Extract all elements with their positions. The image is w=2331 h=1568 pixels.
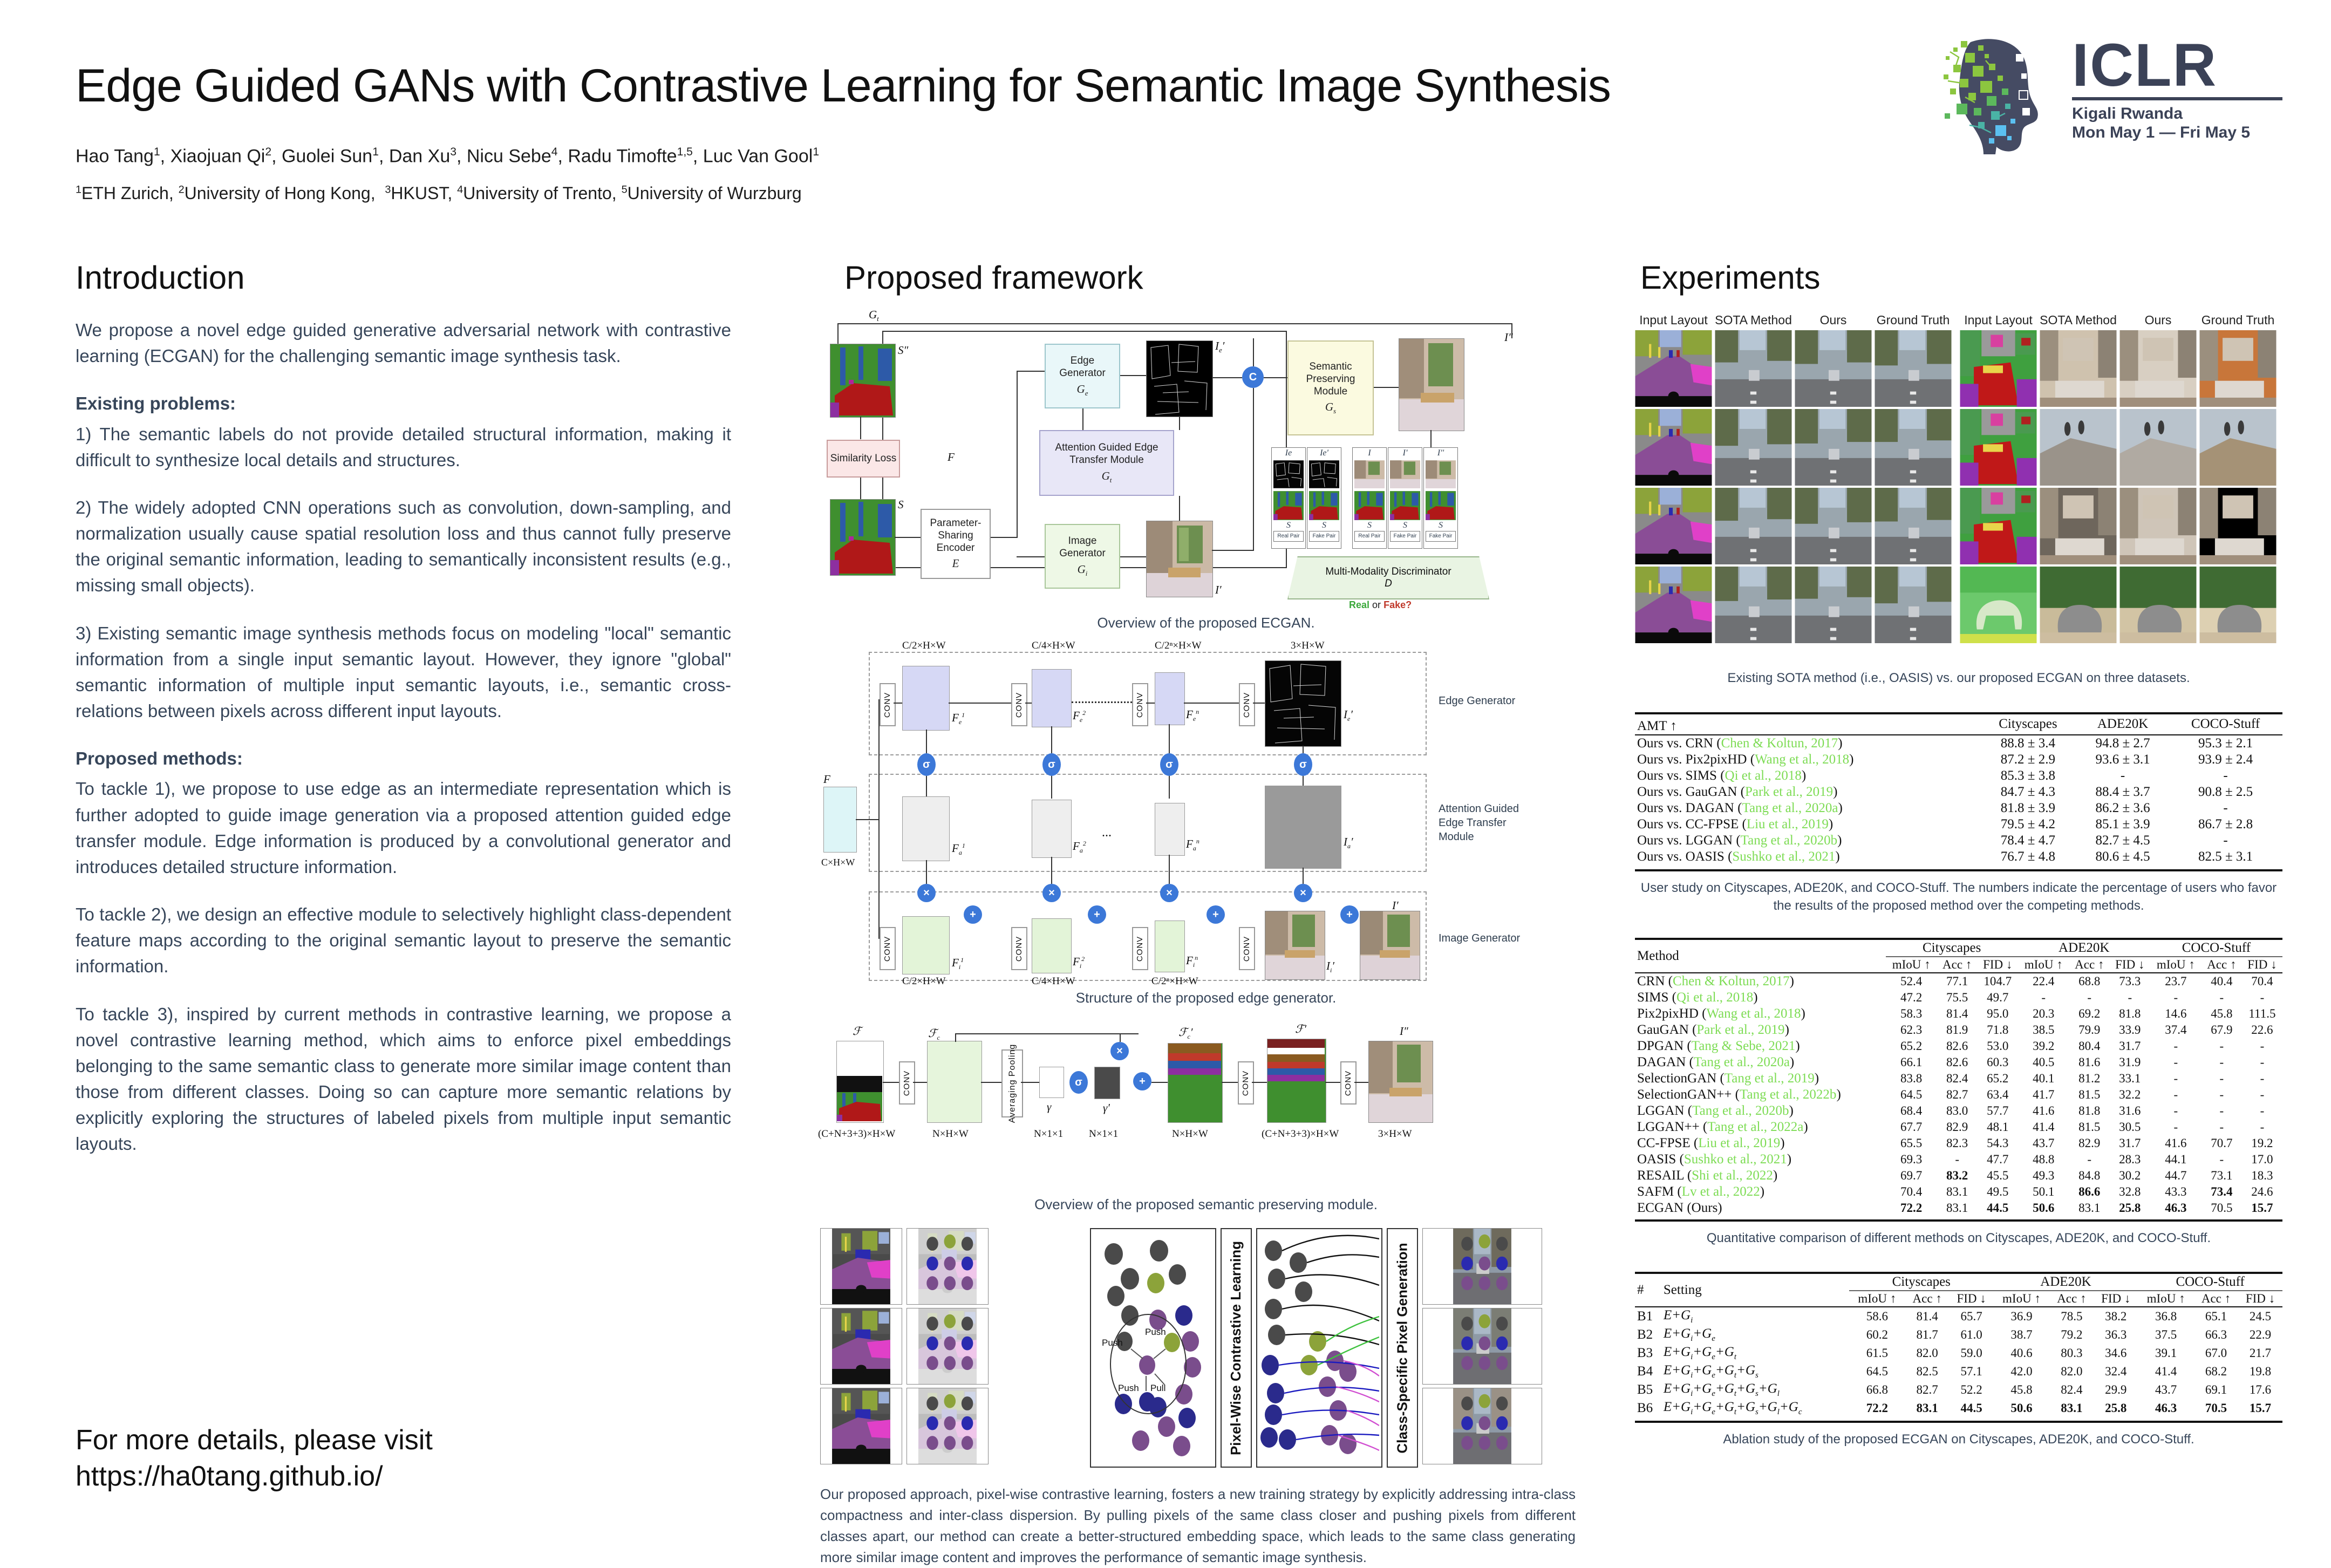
- qualitative-cell: [1795, 330, 1872, 407]
- spm-dim-5: N×H×W: [1172, 1128, 1208, 1140]
- section-heading-framework: Proposed framework: [844, 259, 1143, 296]
- attention-feature-n: [1155, 803, 1185, 856]
- iclr-logo: ICLR Kigali Rwanda Mon May 1 — Fri May 5: [1937, 32, 2282, 167]
- ablation-row-setting: E+Gi+Ge+Gt+Gs: [1661, 1362, 1849, 1381]
- svg-text:Push: Push: [1118, 1383, 1139, 1393]
- qualitative-cell: [1635, 488, 1712, 564]
- segmap-S: [830, 499, 896, 576]
- grid-column-header: SOTA Method: [1715, 313, 1792, 328]
- pixel-sample-map: [906, 1308, 989, 1385]
- table-row-label: ECGAN (Ours): [1635, 1200, 1886, 1216]
- class-specific-pixel-label: Class-Specific Pixel Generation: [1387, 1228, 1418, 1468]
- segmap-S-double-prime: [830, 344, 896, 418]
- intro-problem-3: 3) Existing semantic image synthesis met…: [76, 621, 731, 725]
- qualitative-results-grid: Input LayoutSOTA MethodOursGround TruthI…: [1635, 313, 2274, 664]
- feature-edge-1: [902, 666, 950, 731]
- label-Fe2: Fe2: [1073, 709, 1086, 724]
- svg-text:Pull: Pull: [1150, 1383, 1165, 1393]
- label-Ie-out: Ie′: [1344, 708, 1353, 723]
- label-S: S: [898, 498, 904, 512]
- label-Fi1: Fi1: [952, 956, 964, 971]
- table-row-label: Ours vs. Pix2pixHD (Wang et al., 2018): [1635, 752, 1979, 768]
- plus-node-3: +: [1207, 905, 1225, 924]
- label-gamma: γ: [1047, 1100, 1051, 1114]
- conv-img-3: CONV: [1132, 927, 1148, 970]
- iclr-pixel-head-icon: [1937, 32, 2061, 156]
- ablation-row-setting: E+Gi+Ge+Gt+Gs+Gl: [1661, 1381, 1849, 1399]
- ablation-row-setting: E+Gi+Ge: [1661, 1326, 1849, 1344]
- label-S-double-prime: S″: [898, 344, 908, 357]
- qualitative-cell: [1715, 567, 1792, 643]
- qualitative-cell: [1635, 409, 1712, 486]
- ablation-row-id: B3: [1635, 1344, 1661, 1362]
- figure4-caption: Our proposed approach, pixel-wise contra…: [820, 1484, 1576, 1568]
- image-feature-2: [1032, 918, 1072, 973]
- label-I-dp-spm: I″: [1400, 1025, 1408, 1038]
- label-Fi2: Fi2: [1073, 955, 1085, 970]
- figure3-caption: Overview of the proposed semantic preser…: [820, 1196, 1592, 1213]
- qualitative-cell: [1715, 330, 1792, 407]
- qualitative-cell: [2040, 330, 2117, 407]
- ablation-row-id: B1: [1635, 1307, 1661, 1326]
- dim-top-2: C/4×H×W: [1032, 640, 1075, 652]
- ablation-row-setting: E+Gi+Ge+Gt: [1661, 1344, 1849, 1362]
- grid-column-header: Ours: [1795, 313, 1872, 328]
- pair-stack: ISReal Pair: [1352, 447, 1387, 549]
- embedding-space-panel: Push Push Push Pull: [1090, 1228, 1216, 1468]
- gamma-prime-vector: [1094, 1067, 1120, 1099]
- qualitative-cell: [1715, 488, 1792, 564]
- pixel-mapping-panel: [1256, 1228, 1382, 1468]
- label-I-double-prime: I″: [1504, 331, 1513, 344]
- table-row-label: SIMS (Qi et al., 2018): [1635, 990, 1886, 1006]
- row-label-image-generator: Image Generator: [1439, 932, 1520, 945]
- table-row-label: DPGAN (Tang & Sebe, 2021): [1635, 1038, 1886, 1054]
- averaging-pooling-block: Averaging Pooling: [1001, 1049, 1023, 1117]
- intro-method-1: To tackle 1), we propose to use edge as …: [76, 776, 731, 880]
- figure1-caption: Overview of the proposed ECGAN.: [820, 615, 1592, 631]
- dim-bottom-2: C/4×H×W: [1032, 976, 1075, 987]
- spm-dim-3: N×1×1: [1034, 1128, 1063, 1140]
- spm-dim-2: N×H×W: [932, 1128, 969, 1140]
- input-layout-map: [820, 1228, 902, 1305]
- qualitative-cell: [2199, 330, 2277, 407]
- label-Fe1: Fe1: [952, 711, 965, 726]
- spm-input-stack: [836, 1041, 884, 1123]
- label-input-dim: C×H×W: [821, 857, 855, 868]
- dim-top-3: C/2ⁿ×H×W: [1155, 640, 1202, 652]
- intro-paragraph-1: We propose a novel edge guided generativ…: [76, 317, 731, 369]
- pair-type-label: Real Pair: [1354, 531, 1385, 542]
- attention-feature-1: [902, 796, 950, 861]
- input-layout-map: [820, 1308, 902, 1385]
- table-row-label: Ours vs. OASIS (Sushko et al., 2021): [1635, 849, 1979, 865]
- ablation-row-id: B6: [1635, 1399, 1661, 1417]
- qualitative-cell: [1795, 567, 1872, 643]
- spm-sigma-node: σ: [1069, 1071, 1088, 1094]
- iclr-location: Kigali Rwanda: [2072, 105, 2282, 124]
- image-generator-block: ImageGeneratorGi: [1045, 524, 1120, 589]
- amt-table: AMT ↑CityscapesADE20KCOCO-StuffOurs vs. …: [1635, 712, 2282, 871]
- ablation-row-setting: E+Gi+Ge+Gt+Gs+Gl+Gc: [1661, 1399, 1849, 1417]
- spm-conv-1: CONV: [899, 1061, 915, 1105]
- plus-node-2: +: [1088, 905, 1106, 924]
- spm-colored-stack-1: [1168, 1043, 1223, 1123]
- semantic-preserving-module-diagram: ℱ (C+N+3+3)×H×W CONV ℱc N×H×W Averaging …: [820, 1021, 1592, 1189]
- contrastive-input-layouts: [820, 1228, 1074, 1465]
- ablation-row-id: B5: [1635, 1381, 1661, 1399]
- qualitative-cell: [1960, 330, 2037, 407]
- spm-mult-node: ×: [1110, 1042, 1129, 1060]
- dim-top-4: 3×H×W: [1291, 640, 1325, 652]
- qualitative-cell: [1960, 409, 2037, 486]
- ablation-caption: Ablation study of the proposed ECGAN on …: [1635, 1430, 2282, 1449]
- label-Fa1: Fa1: [952, 842, 965, 857]
- group-attention-module: [869, 774, 1427, 872]
- more-details-block: For more details, please visit https://h…: [76, 1422, 750, 1494]
- table-row-label: OASIS (Sushko et al., 2021): [1635, 1151, 1886, 1168]
- qualitative-cell: [2119, 488, 2197, 564]
- spm-dim-6: (C+N+3+3)×H×W: [1262, 1128, 1339, 1140]
- intro-problem-2: 2) The widely adopted CNN operations suc…: [76, 495, 731, 599]
- label-Ii: Ii′: [1326, 959, 1334, 974]
- label-F-input: F: [823, 773, 830, 786]
- label-Fa2: Fa2: [1073, 840, 1086, 855]
- spm-conv-3: CONV: [1340, 1061, 1357, 1105]
- spm-colored-stack-2: [1267, 1039, 1326, 1123]
- pixel-sample-map: [906, 1388, 989, 1464]
- label-Fc-prime: ℱc′: [1178, 1026, 1192, 1041]
- ecgan-overview-diagram: Gt S″ Similarity Loss: [820, 305, 1592, 607]
- iclr-wordmark: ICLR Kigali Rwanda Mon May 1 — Fri May 5: [2072, 37, 2282, 142]
- table-row-label: GauGAN (Park et al., 2019): [1635, 1022, 1886, 1038]
- gamma-vector: [1039, 1067, 1064, 1098]
- input-layout-map: [820, 1388, 902, 1464]
- qualitative-cell: [1795, 488, 1872, 564]
- qualitative-cell: [1715, 409, 1792, 486]
- ablation-row-id: B4: [1635, 1362, 1661, 1381]
- conv-edge-1: CONV: [880, 683, 896, 726]
- multi-modality-discriminator-block: Multi-Modality Discriminator D: [1287, 556, 1489, 599]
- spm-plus-node: +: [1133, 1072, 1151, 1090]
- label-Fin: Fin: [1186, 954, 1198, 969]
- row-label-edge-generator: Edge Generator: [1439, 695, 1515, 707]
- intermediate-image-Ii: [1265, 911, 1325, 980]
- table-row-label: DAGAN (Tang et al., 2020a): [1635, 1054, 1886, 1071]
- sigma-node-4: σ: [1294, 753, 1312, 776]
- ablation-row-id: B2: [1635, 1326, 1661, 1344]
- qualitative-cell: [1635, 330, 1712, 407]
- grid-column-header: Input Layout: [1635, 313, 1712, 328]
- qualitative-caption: Existing SOTA method (i.e., OASIS) vs. o…: [1635, 669, 2282, 687]
- label-Ia: Ia′: [1344, 835, 1353, 850]
- label-Fen: Fen: [1186, 708, 1199, 723]
- dim-bottom-1: C/2×H×W: [902, 976, 946, 987]
- conv-edge-3: CONV: [1132, 683, 1148, 726]
- qualitative-cell: [2119, 567, 2197, 643]
- spm-dim-4: N×1×1: [1089, 1128, 1118, 1140]
- mult-node-2: ×: [1042, 884, 1061, 902]
- label-F-prime: ℱ′: [1295, 1022, 1306, 1036]
- quantitative-table: MethodCityscapesADE20KCOCO-StuffmIoU ↑Ac…: [1635, 938, 2282, 1222]
- similarity-loss-block: Similarity Loss: [827, 440, 900, 478]
- mult-node-3: ×: [1160, 884, 1178, 902]
- ablation-row-setting: E+Gi: [1661, 1307, 1849, 1326]
- qualitative-cell: [1875, 567, 1952, 643]
- conv-img-2: CONV: [1011, 927, 1027, 970]
- qualitative-cell: [1960, 488, 2037, 564]
- pair-type-label: Real Pair: [1273, 531, 1304, 542]
- spm-output-image: [1368, 1041, 1433, 1123]
- qualitative-cell: [2119, 409, 2197, 486]
- pair-type-label: Fake Pair: [1309, 531, 1339, 542]
- generated-result-image: [1422, 1388, 1542, 1464]
- introduction-body: We propose a novel edge guided generativ…: [76, 317, 731, 1179]
- real-or-fake-label: Real or Fake?: [1349, 599, 1412, 611]
- qualitative-cell: [2040, 488, 2117, 564]
- figure2-caption: Structure of the proposed edge generator…: [820, 990, 1592, 1006]
- grid-column-header: Ours: [2119, 313, 2197, 328]
- sigma-node-2: σ: [1042, 753, 1061, 776]
- ablation-table: #SettingCityscapesADE20KCOCO-StuffmIoU ↑…: [1635, 1272, 2282, 1423]
- ablation-table-wrapper: #SettingCityscapesADE20KCOCO-StuffmIoU ↑…: [1635, 1272, 2282, 1449]
- table-row-label: Ours vs. CC-FPSE (Liu et al., 2019): [1635, 816, 1979, 833]
- table-row-label: SelectionGAN (Tang et al., 2019): [1635, 1071, 1886, 1087]
- qualitative-cell: [1635, 567, 1712, 643]
- image-feature-1: [902, 916, 950, 974]
- label-Gt: Gt: [869, 308, 879, 323]
- conv-edge-4: CONV: [1239, 683, 1255, 726]
- edge-generator-structure-diagram: Edge Generator Attention Guided Edge Tra…: [820, 647, 1592, 982]
- qualitative-cell: [2199, 488, 2277, 564]
- experiments-column: Input LayoutSOTA MethodOursGround TruthI…: [1635, 313, 2282, 1449]
- table-row-label: Ours vs. CRN (Chen & Koltun, 2017): [1635, 735, 1979, 752]
- generated-image-I-prime: [1146, 521, 1213, 597]
- sigma-node-1: σ: [917, 753, 936, 776]
- pair-type-label: Fake Pair: [1390, 531, 1420, 542]
- mult-node-4: ×: [1294, 884, 1312, 902]
- qualitative-cell: [2040, 567, 2117, 643]
- generated-result-image: [1422, 1228, 1542, 1305]
- proposed-methods-heading: Proposed methods:: [76, 746, 731, 772]
- pair-stack: IeSReal Pair: [1271, 447, 1306, 549]
- affiliation-list: 1ETH Zurich, 2University of Hong Kong, 3…: [76, 183, 802, 203]
- existing-problems-heading: Existing problems:: [76, 391, 731, 417]
- grid-column-header: Input Layout: [1960, 313, 2037, 328]
- label-gamma-prime: γ': [1103, 1101, 1110, 1115]
- qualitative-cell: [1875, 330, 1952, 407]
- framework-column: Gt S″ Similarity Loss: [820, 305, 1592, 1568]
- label-I-prime: I′: [1215, 583, 1222, 597]
- dim-top-1: C/2×H×W: [902, 640, 946, 652]
- qualitative-cell: [2199, 409, 2277, 486]
- semantic-preserving-module-block: SemanticPreservingModuleGs: [1287, 340, 1374, 435]
- conv-edge-2: CONV: [1011, 683, 1027, 726]
- qualitative-cell: [1960, 567, 2037, 643]
- edge-map-Ie-prime: [1146, 340, 1213, 417]
- feature-edge-2: [1032, 669, 1072, 727]
- pair-type-label: Fake Pair: [1426, 531, 1456, 542]
- table-row-label: SAFM (Lv et al., 2022): [1635, 1184, 1886, 1200]
- concat-node: C: [1242, 366, 1264, 388]
- table-row-label: Ours vs. SIMS (Qi et al., 2018): [1635, 768, 1979, 784]
- pixel-wise-contrastive-label: Pixel-Wise Contrastive Learning: [1221, 1228, 1252, 1468]
- iclr-dates: Mon May 1 — Fri May 5: [2072, 124, 2282, 142]
- edge-generator-block: EdgeGeneratorGe: [1045, 344, 1120, 408]
- section-heading-experiments: Experiments: [1640, 259, 1820, 296]
- label-I-prime-out: I′: [1392, 899, 1399, 912]
- qualitative-cell: [2199, 567, 2277, 643]
- quant-caption: Quantitative comparison of different met…: [1635, 1229, 2282, 1247]
- quant-table-wrapper: MethodCityscapesADE20KCOCO-StuffmIoU ↑Ac…: [1635, 938, 2282, 1247]
- pair-stack: I''SFake Pair: [1423, 447, 1458, 549]
- table-row-label: Pix2pixHD (Wang et al., 2018): [1635, 1006, 1886, 1022]
- table-row-label: LGGAN (Tang et al., 2020b): [1635, 1103, 1886, 1119]
- qualitative-cell: [2040, 409, 2117, 486]
- row-label-attention: Attention Guided Edge Transfer Module: [1439, 802, 1530, 844]
- label-Ie-prime: Ie′: [1215, 339, 1224, 354]
- table-row-label: Ours vs. LGGAN (Tang et al., 2020b): [1635, 833, 1979, 849]
- conv-img-4: CONV: [1239, 927, 1255, 970]
- contrastive-learning-diagram: Push Push Push Pull Pixel-Wise Contrasti…: [820, 1228, 1592, 1476]
- project-url[interactable]: https://ha0tang.github.io/: [76, 1458, 750, 1495]
- iclr-word: ICLR: [2072, 37, 2282, 94]
- qualitative-cell: [1875, 488, 1952, 564]
- table-row-label: SelectionGAN++ (Tang et al., 2022b): [1635, 1087, 1886, 1103]
- sigma-node-3: σ: [1160, 753, 1178, 776]
- amt-caption: User study on Cityscapes, ADE20K, and CO…: [1635, 879, 2282, 915]
- qualitative-cell: [1795, 409, 1872, 486]
- attention-map-Ia: [1265, 786, 1341, 869]
- label-Fan: Fan: [1186, 837, 1199, 853]
- spm-dim-7: 3×H×W: [1378, 1128, 1412, 1140]
- pair-stacks: IeSReal PairIe'SFake PairISReal PairI'SF…: [1271, 447, 1498, 550]
- spm-conv-2: CONV: [1238, 1061, 1254, 1105]
- visit-label: For more details, please visit: [76, 1422, 750, 1458]
- parameter-sharing-encoder-block: Parameter-SharingEncoder E: [921, 509, 991, 579]
- intro-problem-1: 1) The semantic labels do not provide de…: [76, 421, 731, 473]
- poster-header: Edge Guided GANs with Contrastive Learni…: [0, 0, 2331, 232]
- input-feature-slab: [823, 787, 857, 853]
- spm-dim-1: (C+N+3+3)×H×W: [818, 1128, 895, 1140]
- svg-text:Push: Push: [1145, 1327, 1166, 1337]
- grid-column-header: Ground Truth: [1875, 313, 1952, 328]
- conv-img-1: CONV: [880, 927, 896, 970]
- grid-column-header: SOTA Method: [2040, 313, 2117, 328]
- edge-output-Ie: [1265, 660, 1341, 747]
- output-image-I-double-prime: [1399, 338, 1464, 431]
- contrastive-result-images: [1422, 1228, 1544, 1465]
- mult-node-1: ×: [917, 884, 936, 902]
- qualitative-cell: [1875, 409, 1952, 486]
- intro-method-3: To tackle 3), inspired by current method…: [76, 1001, 731, 1157]
- page-title: Edge Guided GANs with Contrastive Learni…: [76, 59, 1611, 113]
- grid-column-header: Ground Truth: [2199, 313, 2277, 328]
- pair-stack: Ie'SFake Pair: [1307, 447, 1341, 549]
- table-row-label: CC-FPSE (Liu et al., 2019): [1635, 1135, 1886, 1151]
- table-row-label: CRN (Chen & Koltun, 2017): [1635, 973, 1886, 990]
- attention-feature-2: [1032, 800, 1072, 858]
- table-row-label: Ours vs. GauGAN (Park et al., 2019): [1635, 784, 1979, 800]
- attention-guided-edge-transfer-block: Attention Guided EdgeTransfer ModuleGt: [1039, 430, 1174, 496]
- intro-method-2: To tackle 2), we design an effective mod…: [76, 902, 731, 980]
- generated-result-image: [1422, 1308, 1542, 1385]
- image-feature-n: [1155, 921, 1185, 972]
- table-row-label: RESAIL (Shi et al., 2022): [1635, 1168, 1886, 1184]
- pair-stack: I'SFake Pair: [1388, 447, 1422, 549]
- section-heading-introduction: Introduction: [76, 259, 245, 296]
- label-Fc: ℱc: [928, 1027, 940, 1042]
- spm-feature-stack: [927, 1041, 982, 1123]
- qualitative-cell: [2119, 330, 2197, 407]
- author-list: Hao Tang1, Xiaojuan Qi2, Guolei Sun1, Da…: [76, 146, 819, 167]
- final-image-I-prime-2: [1360, 911, 1420, 980]
- svg-text:Push: Push: [1102, 1338, 1123, 1348]
- plus-node-4: +: [1340, 905, 1359, 924]
- pixel-sample-map: [906, 1228, 989, 1305]
- table-row-label: Ours vs. DAGAN (Tang et al., 2020a): [1635, 800, 1979, 816]
- label-F-spm: ℱ: [853, 1025, 862, 1038]
- table-row-label: LGGAN++ (Tang et al., 2022a): [1635, 1119, 1886, 1135]
- amt-table-wrapper: AMT ↑CityscapesADE20KCOCO-StuffOurs vs. …: [1635, 712, 2282, 915]
- dim-bottom-3: C/2ⁿ×H×W: [1151, 976, 1198, 987]
- plus-node-1: +: [964, 905, 982, 924]
- label-F: F: [948, 451, 955, 464]
- feature-edge-n: [1155, 672, 1185, 725]
